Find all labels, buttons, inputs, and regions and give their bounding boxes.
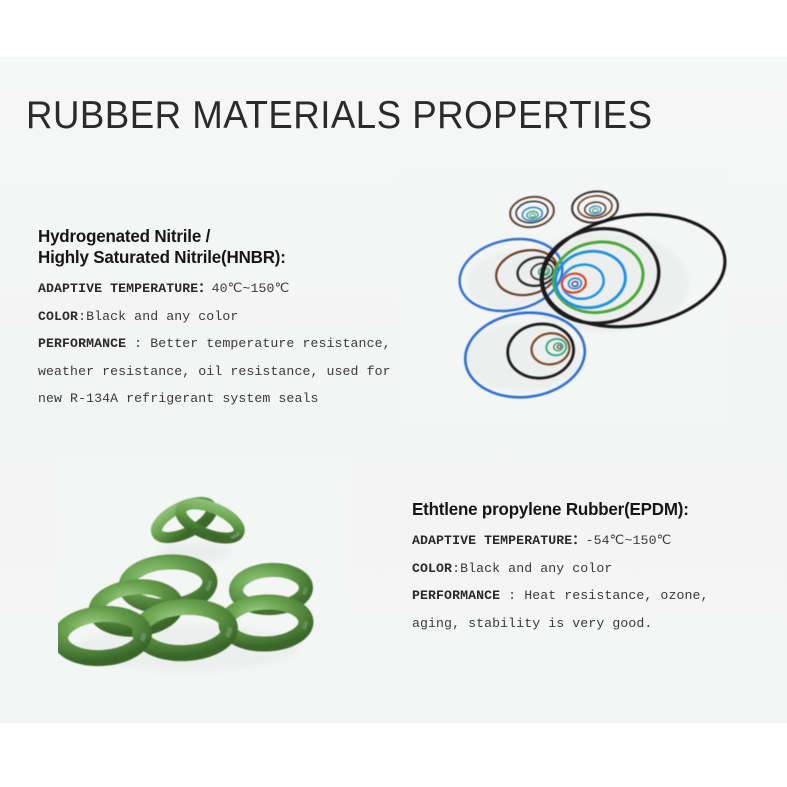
spec-key: COLOR	[412, 561, 452, 576]
spec-key: PERFORMANCE	[412, 588, 500, 603]
page-title: RUBBER MATERIALS PROPERTIES	[26, 94, 653, 138]
material-heading-hnbr-line2: Highly Saturated Nitrile(HNBR):	[38, 247, 380, 268]
spec-value: -54℃~150℃	[586, 533, 672, 548]
spec-key: ADAPTIVE TEMPERATURE：	[412, 533, 586, 548]
spec-key: COLOR	[38, 309, 78, 324]
spec-row-color: COLOR:Black and any color	[412, 555, 709, 583]
material-specs-hnbr: ADAPTIVE TEMPERATURE：40℃~150℃ COLOR:Blac…	[38, 275, 391, 413]
spec-value: :Black and any color	[78, 309, 238, 324]
spec-row-performance: PERFORMANCE : Heat resistance, ozone,	[412, 582, 709, 610]
green-o-rings-photo	[58, 458, 348, 688]
spec-continuation-line: new R-134A refrigerant system seals	[38, 385, 391, 413]
spec-key: ADAPTIVE TEMPERATURE：	[38, 281, 212, 296]
material-specs-epdm: ADAPTIVE TEMPERATURE：-54℃~150℃ COLOR:Bla…	[412, 527, 709, 637]
spec-row-performance: PERFORMANCE : Better temperature resista…	[38, 330, 391, 358]
spec-row-adaptive-temperature: ADAPTIVE TEMPERATURE：-54℃~150℃	[412, 527, 709, 555]
spec-value: : Heat resistance, ozone,	[500, 588, 708, 603]
spec-key: PERFORMANCE	[38, 336, 126, 351]
spec-row-adaptive-temperature: ADAPTIVE TEMPERATURE：40℃~150℃	[38, 275, 391, 303]
poster-root: RUBBER MATERIALS PROPERTIES Hydrogenated…	[0, 0, 787, 787]
material-block-hnbr: Hydrogenated Nitrile / Highly Saturated …	[38, 226, 391, 413]
spec-value: :Black and any color	[452, 561, 612, 576]
spec-row-color: COLOR:Black and any color	[38, 303, 391, 331]
assorted-o-rings-photo	[398, 172, 728, 422]
material-heading-epdm: Ethtlene propylene Rubber(EPDM):	[412, 499, 700, 520]
spec-continuation-line: aging, stability is very good.	[412, 610, 709, 638]
material-block-epdm: Ethtlene propylene Rubber(EPDM): ADAPTIV…	[412, 499, 709, 637]
spec-continuation-line: weather resistance, oil resistance, used…	[38, 358, 391, 386]
spec-value: : Better temperature resistance,	[126, 336, 390, 351]
spec-value: 40℃~150℃	[212, 281, 290, 296]
material-heading-hnbr-line1: Hydrogenated Nitrile /	[38, 226, 380, 247]
